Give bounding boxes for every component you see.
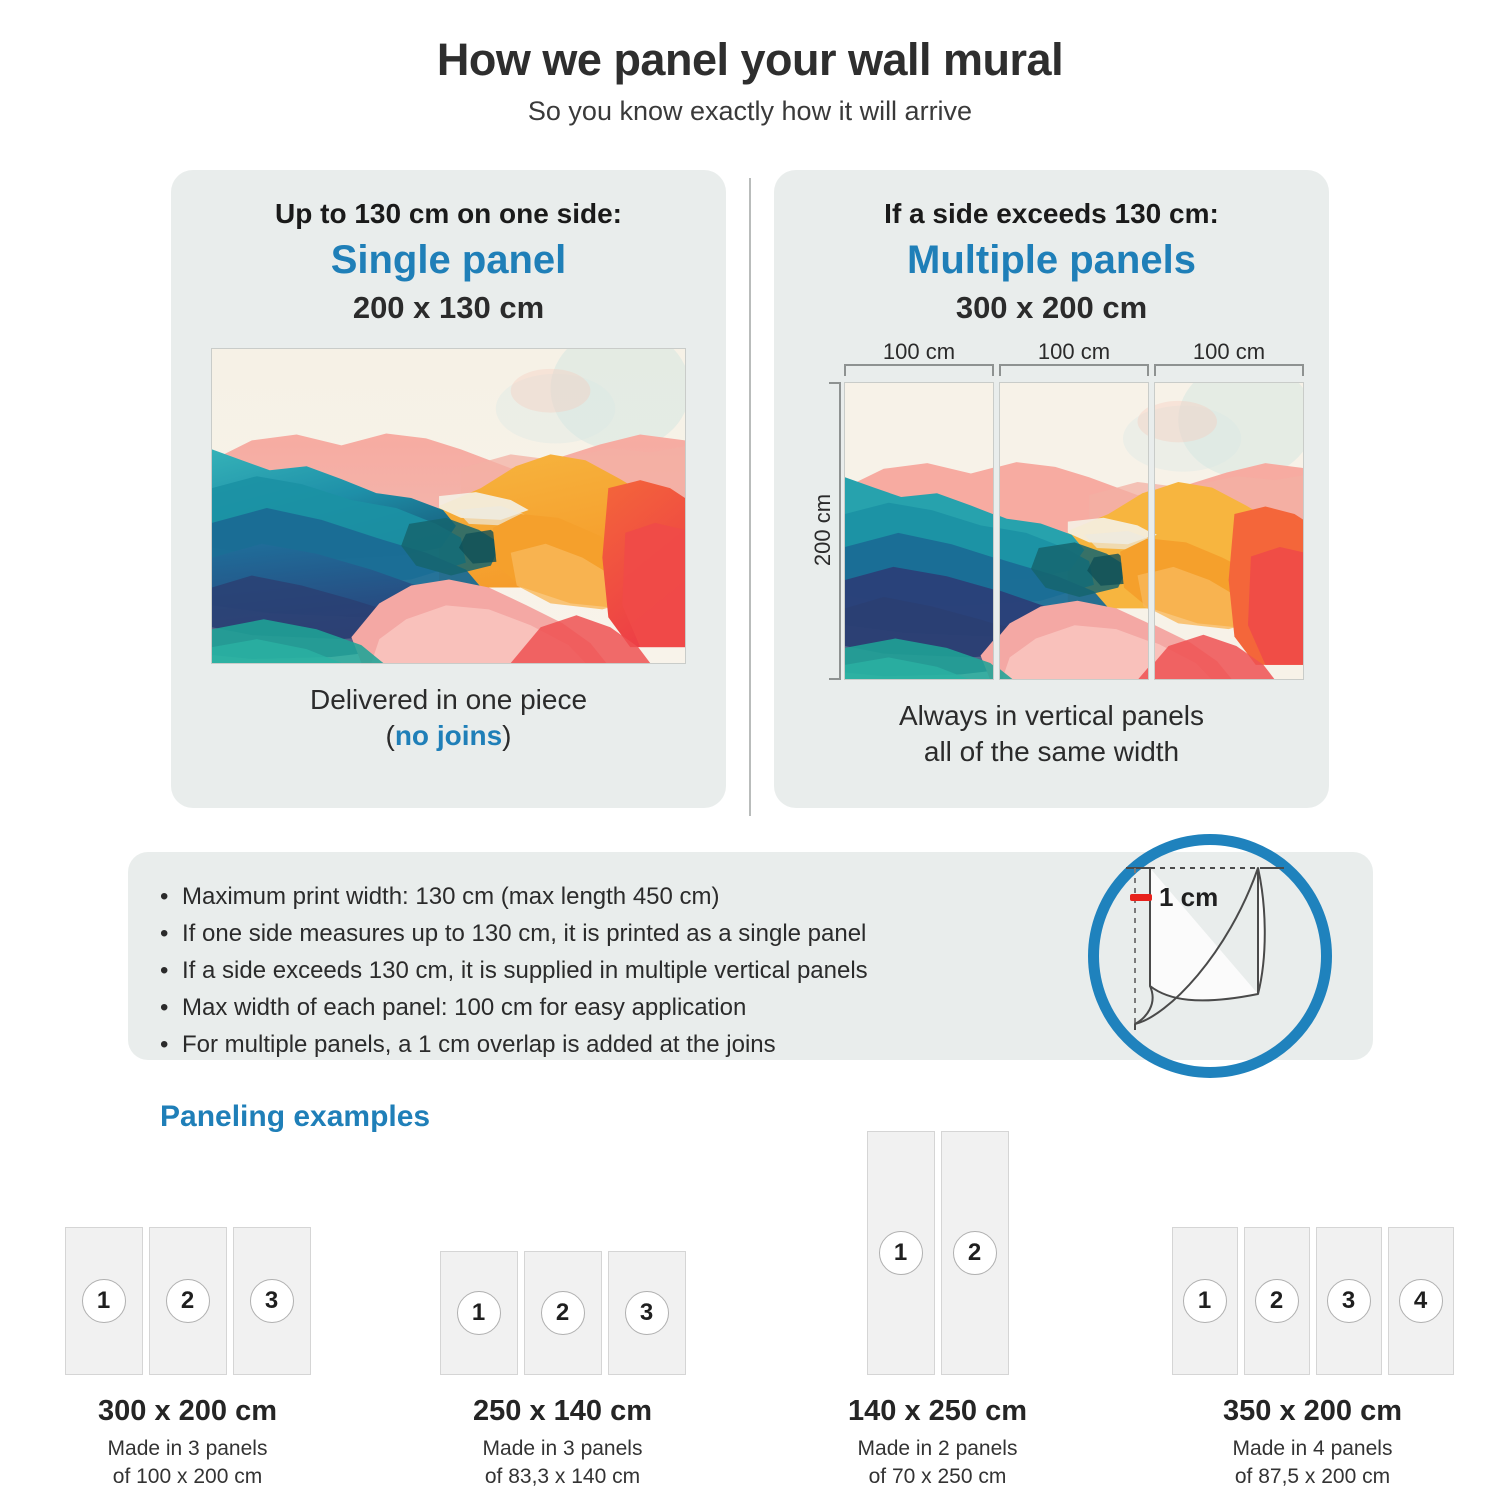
panel-number-badge: 2 (541, 1291, 585, 1335)
single-caption-paren-close: ) (502, 720, 511, 751)
panel-number-badge: 4 (1399, 1279, 1443, 1323)
multi-mural-preview: 100 cm 100 cm 100 cm 200 cm (799, 340, 1304, 680)
overlap-measure-marker (1130, 894, 1152, 901)
example-diagram: 1 2 3 4 (1125, 1125, 1500, 1375)
mural-panel-slice-2 (999, 382, 1149, 680)
mural-artwork-slice (845, 382, 994, 680)
single-caption-accent: no joins (395, 720, 502, 751)
panel-number-badge: 1 (82, 1279, 126, 1323)
panel-number-badge: 3 (250, 1279, 294, 1323)
panel-width-label-1: 100 cm (844, 340, 994, 364)
example-panel: 2 (524, 1251, 602, 1375)
overlap-diagram: 1 cm (1088, 834, 1332, 1078)
dimension-bracket-icon (844, 364, 994, 376)
panel-number-badge: 1 (879, 1231, 923, 1275)
example-item: 1 2 3 4 350 x 200 cm Made in 4 panels of… (1125, 1125, 1500, 1490)
example-panel: 2 (1244, 1227, 1310, 1375)
panel-number-badge: 3 (625, 1291, 669, 1335)
panel-number-badge: 2 (1255, 1279, 1299, 1323)
panel-number-badge: 3 (1327, 1279, 1371, 1323)
example-panel: 1 (65, 1227, 143, 1375)
panel-width-label-3: 100 cm (1154, 340, 1304, 364)
single-result-label: Single panel (191, 238, 706, 282)
multiple-caption-line2: all of the same width (924, 736, 1179, 767)
mural-artwork-svg (1154, 382, 1304, 680)
examples-row: 1 2 3 300 x 200 cm Made in 3 panels of 1… (0, 1125, 1500, 1490)
panel-width-dimension: 100 cm (999, 340, 1149, 382)
example-item: 1 2 3 300 x 200 cm Made in 3 panels of 1… (0, 1125, 375, 1490)
rule-item: Maximum print width: 130 cm (max length … (156, 878, 1056, 915)
panel-width-label-2: 100 cm (999, 340, 1149, 364)
mural-artwork-svg (999, 382, 1149, 680)
single-condition-label: Up to 130 cm on one side: (191, 198, 706, 230)
multiple-caption-line1: Always in vertical panels (899, 700, 1204, 731)
panel-number-badge: 1 (1183, 1279, 1227, 1323)
example-subtitle-line2: of 100 x 200 cm (113, 1465, 262, 1488)
mural-artwork (211, 348, 686, 664)
overlap-label: 1 cm (1159, 882, 1218, 912)
mural-artwork-slice (1154, 382, 1304, 680)
mural-height-dimension: 200 cm (799, 382, 843, 680)
example-title: 300 x 200 cm (0, 1395, 375, 1428)
example-panel: 2 (149, 1227, 227, 1375)
example-subtitle-line1: Made in 2 panels (858, 1437, 1018, 1460)
card-divider (749, 178, 751, 816)
example-item: 1 2 3 250 x 140 cm Made in 3 panels of 8… (375, 1125, 750, 1490)
single-caption-paren-open: ( (386, 720, 395, 751)
page-header: How we panel your wall mural So you know… (0, 0, 1500, 127)
page-title: How we panel your wall mural (0, 34, 1500, 86)
multiple-caption: Always in vertical panels all of the sam… (794, 698, 1309, 770)
example-panel: 3 (1316, 1227, 1382, 1375)
example-panel: 2 (941, 1131, 1009, 1375)
example-panel: 1 (867, 1131, 935, 1375)
mural-artwork-svg (845, 382, 994, 680)
example-subtitle: Made in 2 panels of 70 x 250 cm (750, 1435, 1125, 1490)
example-subtitle: Made in 3 panels of 83,3 x 140 cm (375, 1435, 750, 1490)
mural-panel-slices (844, 382, 1304, 680)
dimension-bracket-icon (1154, 364, 1304, 376)
panel-width-dimension: 100 cm (844, 340, 994, 382)
rules-list: Maximum print width: 130 cm (max length … (156, 878, 1056, 1063)
example-panel: 1 (1172, 1227, 1238, 1375)
example-panels: 1 2 3 4 (1172, 1227, 1454, 1375)
example-diagram: 1 2 (750, 1125, 1125, 1375)
example-panels: 1 2 (867, 1131, 1009, 1375)
mural-artwork-slice (999, 382, 1149, 680)
example-subtitle-line2: of 87,5 x 200 cm (1235, 1465, 1390, 1488)
card-multiple-panels: If a side exceeds 130 cm: Multiple panel… (774, 170, 1329, 808)
example-subtitle-line2: of 70 x 250 cm (869, 1465, 1007, 1488)
example-subtitle-line1: Made in 4 panels (1233, 1437, 1393, 1460)
example-subtitle: Made in 3 panels of 100 x 200 cm (0, 1435, 375, 1490)
single-caption: Delivered in one piece (no joins) (191, 682, 706, 754)
example-panel: 4 (1388, 1227, 1454, 1375)
example-item: 1 2 140 x 250 cm Made in 2 panels of 70 … (750, 1125, 1125, 1490)
example-panel: 1 (440, 1251, 518, 1375)
card-single-panel: Up to 130 cm on one side: Single panel 2… (171, 170, 726, 808)
example-panels: 1 2 3 (440, 1251, 686, 1375)
panel-number-badge: 1 (457, 1291, 501, 1335)
example-subtitle: Made in 4 panels of 87,5 x 200 cm (1125, 1435, 1500, 1490)
example-diagram: 1 2 3 (0, 1125, 375, 1375)
info-strip: Maximum print width: 130 cm (max length … (128, 852, 1373, 1060)
example-panel: 3 (608, 1251, 686, 1375)
example-subtitle-line1: Made in 3 panels (108, 1437, 268, 1460)
rule-item: If one side measures up to 130 cm, it is… (156, 915, 1056, 952)
rule-item: If a side exceeds 130 cm, it is supplied… (156, 952, 1056, 989)
panel-width-dimension: 100 cm (1154, 340, 1304, 382)
example-subtitle-line2: of 83,3 x 140 cm (485, 1465, 640, 1488)
example-title: 350 x 200 cm (1125, 1395, 1500, 1428)
example-title: 140 x 250 cm (750, 1395, 1125, 1428)
example-panels: 1 2 3 (65, 1227, 311, 1375)
example-diagram: 1 2 3 (375, 1125, 750, 1375)
multiple-result-label: Multiple panels (794, 238, 1309, 282)
mural-panel-slice-1 (844, 382, 994, 680)
mural-artwork-svg (212, 349, 685, 663)
single-mural-preview (211, 348, 686, 664)
panel-number-badge: 2 (953, 1231, 997, 1275)
panel-width-dimensions: 100 cm 100 cm 100 cm (844, 340, 1304, 382)
example-panel: 3 (233, 1227, 311, 1375)
multiple-condition-label: If a side exceeds 130 cm: (794, 198, 1309, 230)
mural-height-label: 200 cm (810, 470, 836, 590)
mural-panel-slice-3 (1154, 382, 1304, 680)
rule-item: Max width of each panel: 100 cm for easy… (156, 989, 1056, 1026)
panel-number-badge: 2 (166, 1279, 210, 1323)
example-title: 250 x 140 cm (375, 1395, 750, 1428)
single-caption-line1: Delivered in one piece (310, 684, 587, 715)
page-subtitle: So you know exactly how it will arrive (0, 96, 1500, 127)
example-subtitle-line1: Made in 3 panels (483, 1437, 643, 1460)
dimension-bracket-icon (999, 364, 1149, 376)
single-dimension-label: 200 x 130 cm (191, 290, 706, 326)
rule-item: For multiple panels, a 1 cm overlap is a… (156, 1026, 1056, 1063)
multiple-dimension-label: 300 x 200 cm (794, 290, 1309, 326)
